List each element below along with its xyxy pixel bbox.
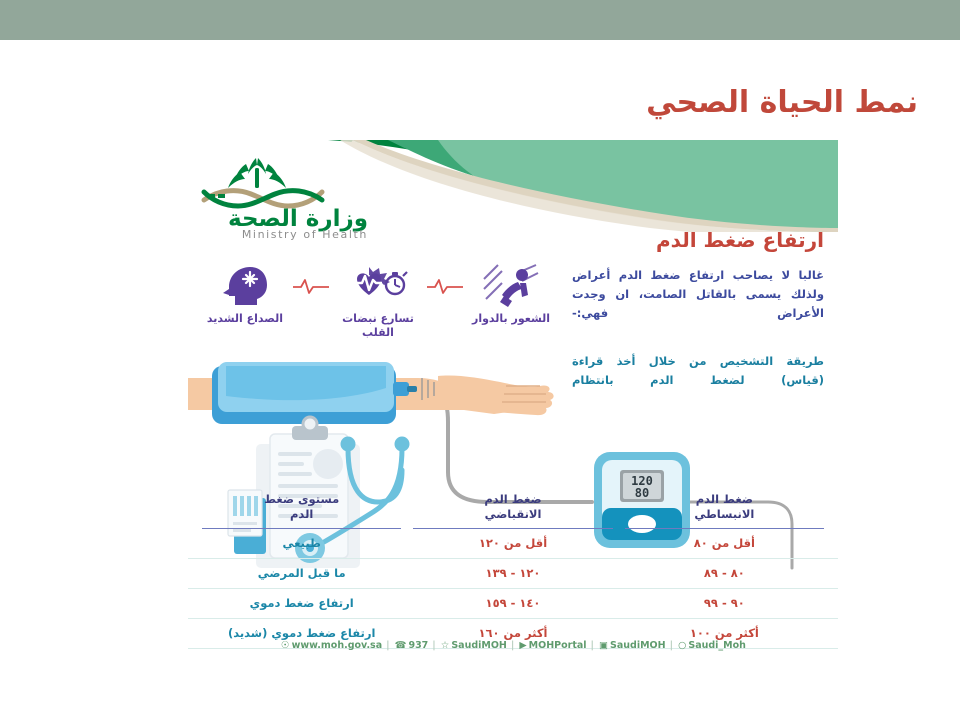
table-row: أقل من ٨٠ أقل من ١٢٠ طبيعي <box>188 529 838 559</box>
column-header-systolic: ضغط الدم الانقباضي <box>413 492 612 529</box>
infographic-card: وزارة الصحة Ministry of Health ارتفاع ضغ… <box>188 140 838 668</box>
cell-systolic: أقل من ١٢٠ <box>407 536 618 550</box>
cell-level: ارتفاع ضغط دموي <box>196 596 407 610</box>
footer-contact-bar: ☉www.moh.gov.sa|☎937|☆SaudiMOH|▶MOHPorta… <box>188 640 838 651</box>
symptom-dizziness: الشعور بالدوار <box>464 262 558 326</box>
footer-instagram[interactable]: SaudiMOH <box>610 640 666 651</box>
moh-logo: وزارة الصحة Ministry of Health <box>196 154 376 240</box>
youtube-icon: ▶ <box>519 640 526 651</box>
slide-top-bar <box>0 0 960 40</box>
logo-english-text: Ministry of Health <box>242 228 368 240</box>
footer-separator: | <box>386 640 389 651</box>
table-row: ٨٠ - ٨٩ ١٢٠ - ١٣٩ ما قبل المرضي <box>188 559 838 589</box>
column-header-diastolic: ضغط الدم الانبساطي <box>625 492 824 529</box>
cell-systolic: أكثر من ١٦٠ <box>407 626 618 640</box>
table-header-row: ضغط الدم الانبساطي ضغط الدم الانقباضي مس… <box>188 492 838 529</box>
instagram-icon: ▣ <box>599 640 608 651</box>
intro-paragraph: غالبا لا يصاحب ارتفاع ضغط الدم أعراض ولذ… <box>572 266 824 323</box>
footer-separator: | <box>670 640 673 651</box>
bp-classification-table: ضغط الدم الانبساطي ضغط الدم الانقباضي مس… <box>188 492 838 649</box>
fast-heartbeat-icon <box>331 262 425 310</box>
cell-level: ما قبل المرضي <box>196 566 407 580</box>
footer-twitter[interactable]: SaudiMOH <box>451 640 507 651</box>
cell-systolic: ١٤٠ - ١٥٩ <box>407 596 618 610</box>
severe-headache-icon <box>198 262 292 310</box>
cell-diastolic: ٨٠ - ٨٩ <box>619 566 830 580</box>
cell-systolic: ١٢٠ - ١٣٩ <box>407 566 618 580</box>
page-title: نمط الحياة الصحي <box>358 86 918 119</box>
globe-icon: ☉ <box>281 640 290 651</box>
footer-youtube[interactable]: MOHPortal <box>529 640 587 651</box>
header-line-2: الانقباضي <box>413 507 612 522</box>
symptom-label: الشعور بالدوار <box>464 312 558 326</box>
cell-diastolic: أكثر من ١٠٠ <box>619 626 830 640</box>
dizzy-person-icon <box>464 262 558 310</box>
footer-snapchat[interactable]: Saudi_Moh <box>688 640 746 651</box>
footer-separator: | <box>591 640 594 651</box>
header-line-2: الانبساطي <box>625 507 824 522</box>
symptoms-row: الشعور بالدوار <box>198 262 558 354</box>
slide: نمط الحياة الصحي <box>0 0 960 720</box>
symptom-fast-heartbeat: تسارع نبضات القلب <box>331 262 425 340</box>
footer-separator: | <box>511 640 514 651</box>
table-row: ٩٠ - ٩٩ ١٤٠ - ١٥٩ ارتفاع ضغط دموي <box>188 589 838 619</box>
footer-website[interactable]: www.moh.gov.sa <box>292 640 383 651</box>
twitter-icon: ☆ <box>441 640 450 651</box>
symptom-severe-headache: الصداع الشديد <box>198 262 292 326</box>
palm-tree-icon <box>228 158 286 188</box>
header-line-2: الدم <box>202 507 401 522</box>
column-header-level: مستوى ضغط الدم <box>202 492 401 529</box>
footer-separator: | <box>432 640 435 651</box>
cell-level: ارتفاع ضغط دموي (شديد) <box>196 626 407 640</box>
footer-phone[interactable]: 937 <box>408 640 428 651</box>
ecg-divider-icon-1 <box>425 262 464 310</box>
infographic-heading: ارتفاع ضغط الدم <box>494 228 824 252</box>
crossed-swords-icon <box>204 191 322 206</box>
phone-icon: ☎ <box>395 640 407 651</box>
cell-diastolic: ٩٠ - ٩٩ <box>619 596 830 610</box>
cell-level: طبيعي <box>196 536 407 550</box>
symptom-label: الصداع الشديد <box>198 312 292 326</box>
symptom-label: تسارع نبضات القلب <box>331 312 425 340</box>
cell-diastolic: أقل من ٨٠ <box>619 536 830 550</box>
header-line-1: ضغط الدم <box>413 492 612 507</box>
header-line-1: ضغط الدم <box>625 492 824 507</box>
bp-cuff <box>212 362 434 424</box>
ecg-divider-icon-2 <box>292 262 331 310</box>
snapchat-icon: ○ <box>678 640 686 651</box>
header-line-1: مستوى ضغط <box>202 492 401 507</box>
